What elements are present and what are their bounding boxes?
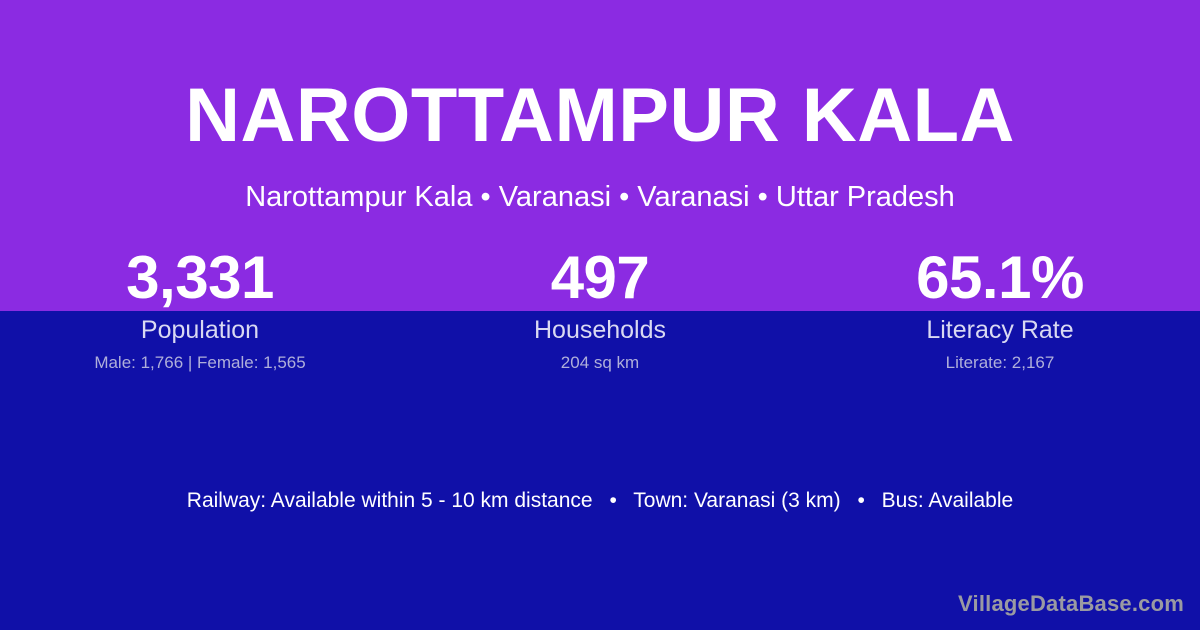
- stat-sub-population: Male: 1,766 | Female: 1,565: [0, 352, 400, 373]
- village-info-card: NAROTTAMPUR KALA Narottampur Kala • Vara…: [0, 0, 1200, 630]
- stat-block-population: 3,331 Population Male: 1,766 | Female: 1…: [0, 246, 400, 373]
- stat-label-households: Households: [400, 315, 800, 345]
- infra-item-bus: Bus: Available: [882, 489, 1014, 512]
- stat-value-population: 3,331: [0, 246, 400, 310]
- stat-sub-literacy-rate: Literate: 2,167: [800, 352, 1200, 373]
- stat-block-households: 497 Households 204 sq km: [400, 246, 800, 373]
- breadcrumb-subtitle: Narottampur Kala • Varanasi • Varanasi •…: [0, 182, 1200, 214]
- infra-separator: •: [846, 489, 875, 512]
- page-title: NAROTTAMPUR KALA: [0, 78, 1200, 154]
- infra-item-railway: Railway: Available within 5 - 10 km dist…: [187, 489, 593, 512]
- infra-separator: •: [598, 489, 627, 512]
- stat-sub-households: 204 sq km: [400, 352, 800, 373]
- infra-item-town: Town: Varanasi (3 km): [633, 489, 840, 512]
- site-brand: VillageDataBase.com: [958, 590, 1184, 618]
- infrastructure-line: Railway: Available within 5 - 10 km dist…: [0, 488, 1200, 514]
- stat-value-households: 497: [400, 246, 800, 310]
- stat-value-literacy-rate: 65.1%: [800, 246, 1200, 310]
- stat-block-literacy-rate: 65.1% Literacy Rate Literate: 2,167: [800, 246, 1200, 373]
- stat-label-population: Population: [0, 315, 400, 345]
- stats-row: 3,331 Population Male: 1,766 | Female: 1…: [0, 246, 1200, 373]
- stat-label-literacy-rate: Literacy Rate: [800, 315, 1200, 345]
